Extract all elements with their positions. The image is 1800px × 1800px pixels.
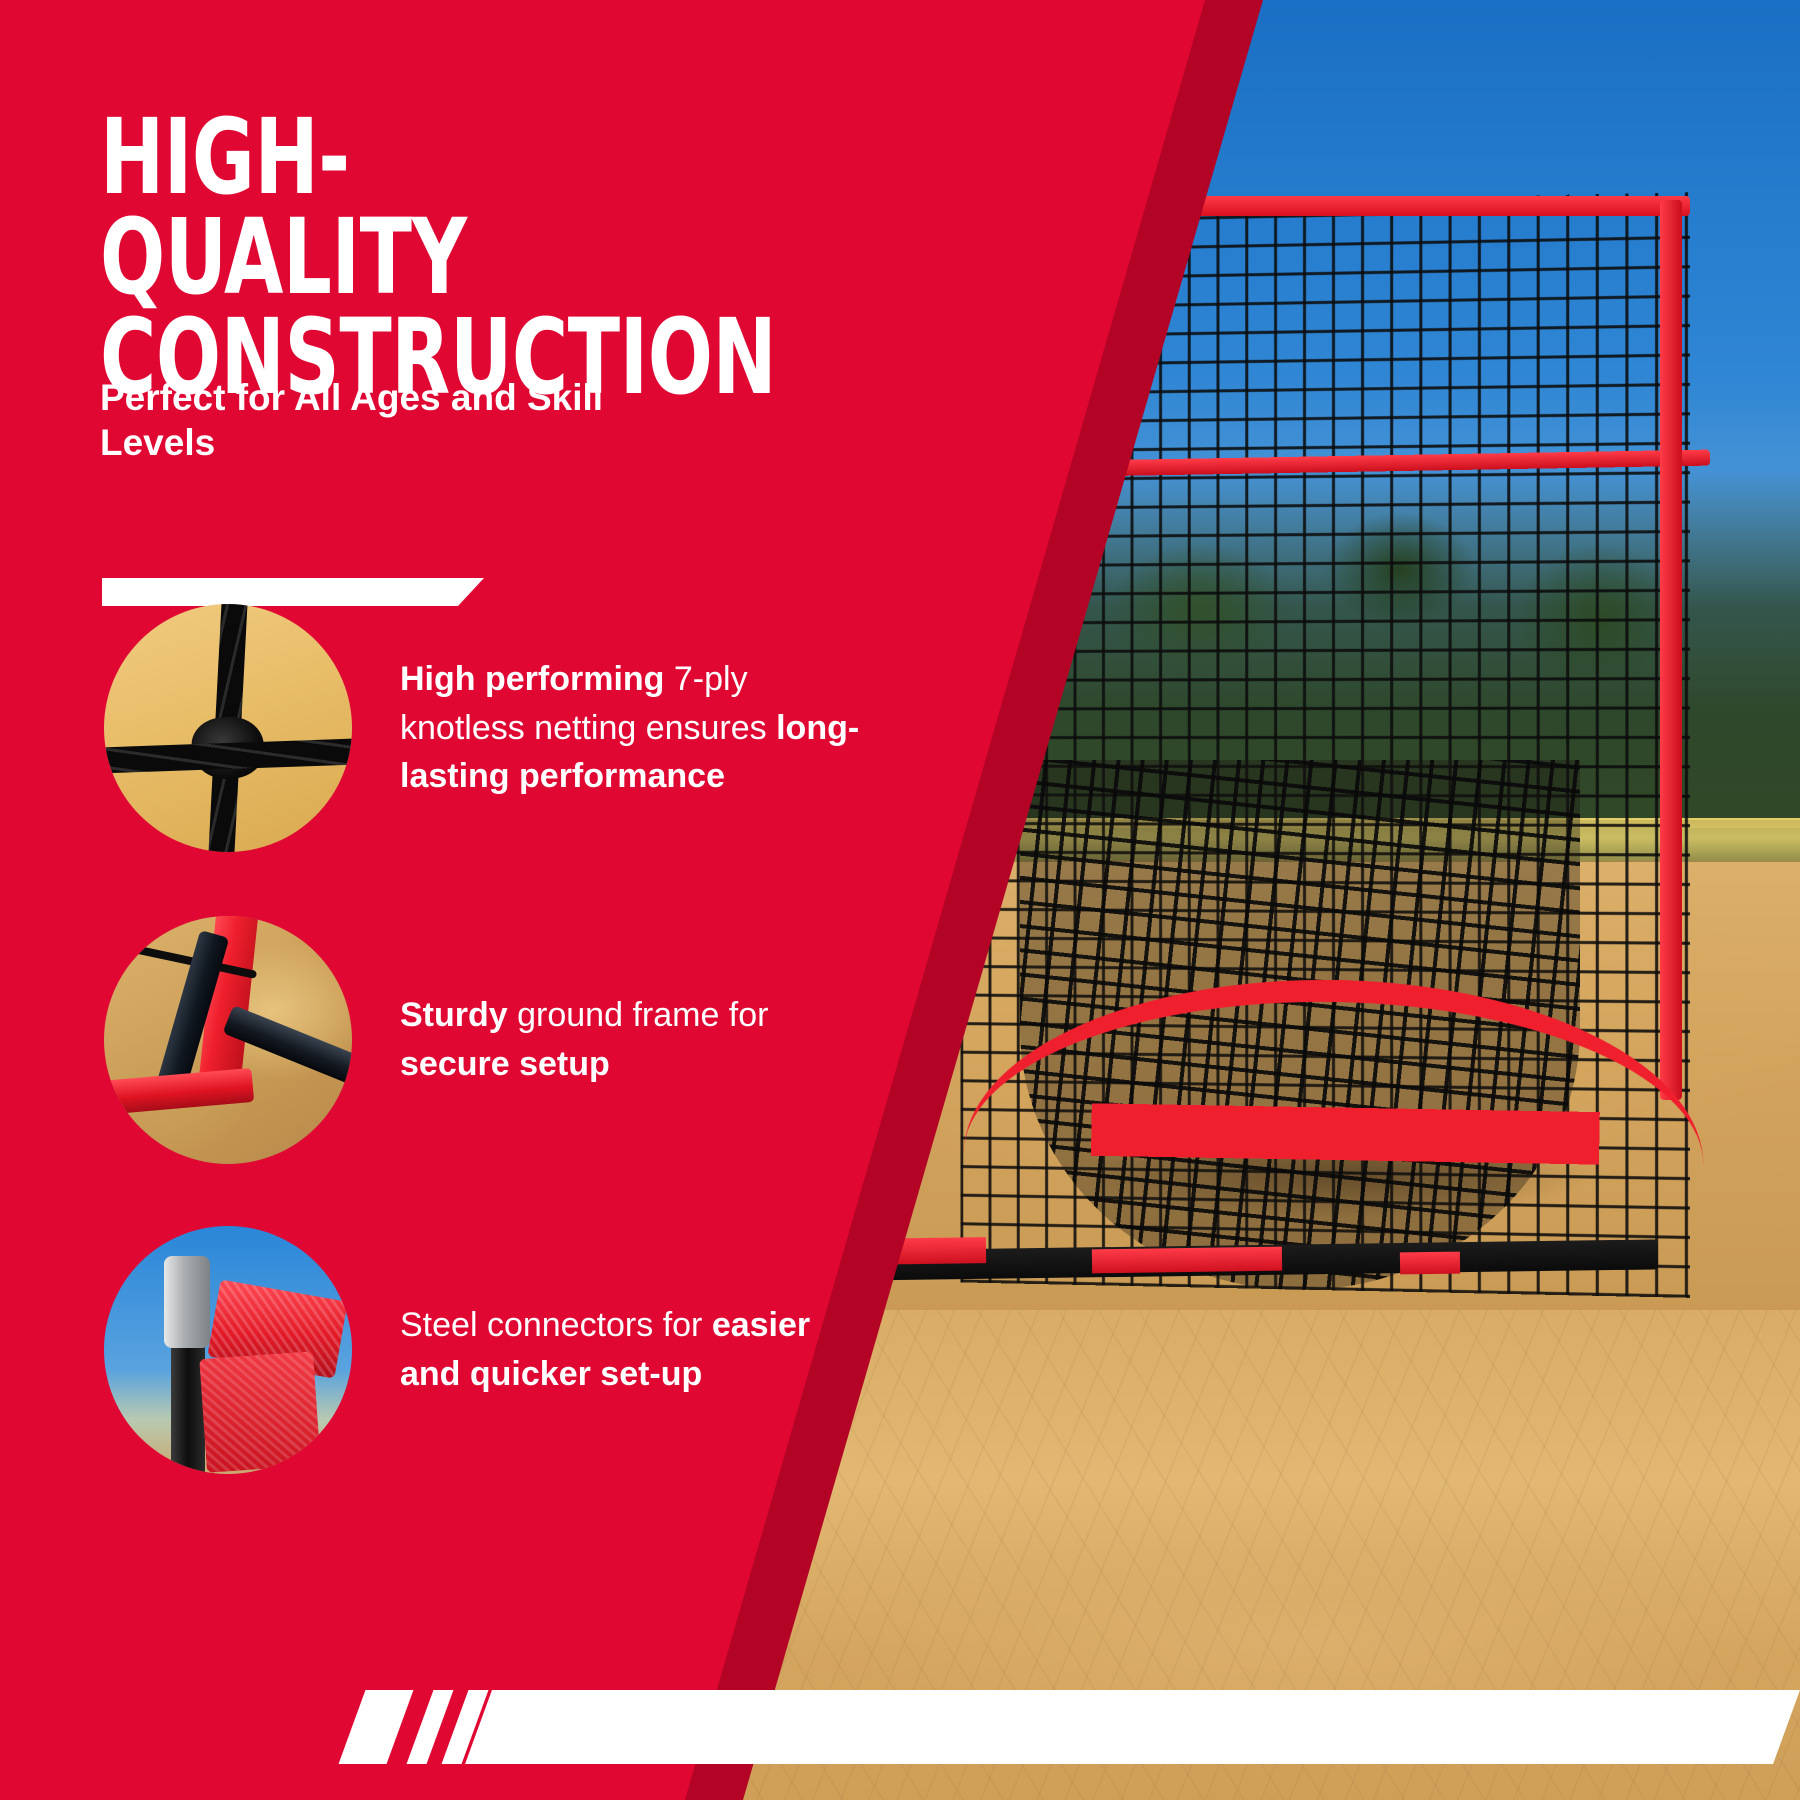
feature-text: Steel connectors for easier and quicker …: [400, 1301, 870, 1399]
feature-item: High performing 7-ply knotless netting e…: [104, 604, 870, 852]
headline-line-1: HIGH-QUALITY: [100, 96, 467, 318]
red-strap-lower: [199, 1351, 321, 1473]
knotless-netting-closeup-icon: [104, 604, 352, 852]
steel-connector-closeup-icon: [104, 1226, 352, 1474]
feature-text: Sturdy ground frame for secure setup: [400, 991, 870, 1089]
ground-frame-closeup-icon: [104, 916, 352, 1164]
feature-text: High performing 7-ply knotless netting e…: [400, 655, 870, 802]
divider-bar: [102, 578, 484, 606]
page-subtitle: Perfect for All Ages and Skill Levels: [100, 375, 660, 465]
net-frame-top-bar: [1170, 196, 1690, 216]
feature-item: Steel connectors for easier and quicker …: [104, 1226, 870, 1474]
frame-pipe-horizontal: [222, 1005, 352, 1085]
net-frame-right-post: [1660, 200, 1682, 1100]
net-ground-pad-center: [1092, 1247, 1282, 1274]
steel-connector-shape: [164, 1256, 210, 1348]
net-ground-pad-right: [1400, 1252, 1460, 1275]
page-title: HIGH-QUALITY CONSTRUCTION: [100, 108, 674, 407]
frame-cord-shape: [115, 941, 257, 979]
rope-knot-shape: [189, 713, 267, 782]
feature-item: Sturdy ground frame for secure setup: [104, 916, 870, 1164]
infographic-canvas: HIGH-QUALITY CONSTRUCTION Perfect for Al…: [0, 0, 1800, 1800]
